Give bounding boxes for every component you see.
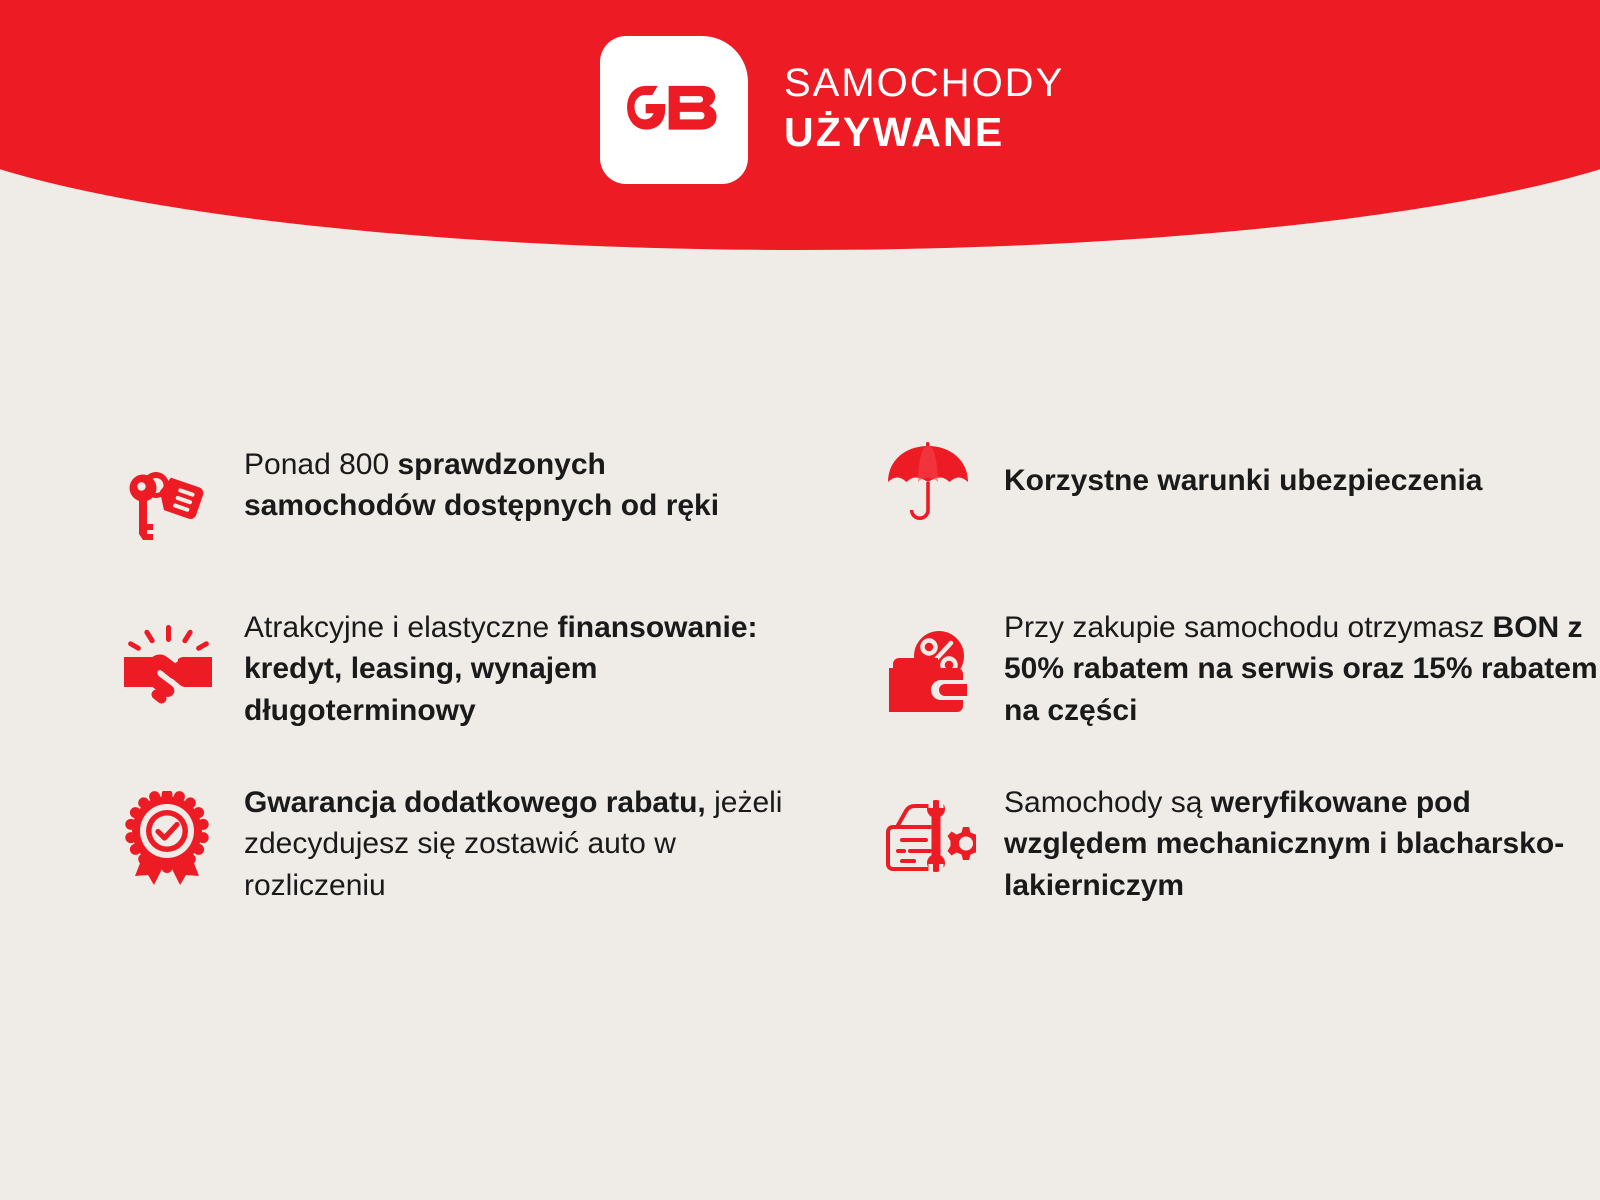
benefits-grid: Ponad 800 sprawdzonych samochodów dostęp… bbox=[0, 430, 1600, 955]
brand-line-uzywane: UŻYWANE bbox=[784, 112, 1064, 153]
umbrella-icon bbox=[880, 434, 976, 530]
benefit-item-verification: Samochody są weryfikowane pod względem m… bbox=[880, 780, 1600, 955]
benefit-item-financing: Atrakcyjne i elastyczne finansowanie: kr… bbox=[120, 605, 840, 780]
benefit-text: Przy zakupie samochodu otrzymasz BON z 5… bbox=[1004, 605, 1600, 731]
benefit-text: Atrakcyjne i elastyczne finansowanie: kr… bbox=[244, 605, 804, 731]
benefit-text-bold: Korzystne warunki ubezpieczenia bbox=[1004, 464, 1482, 497]
brand-logo-lockup[interactable]: SAMOCHODY UŻYWANE bbox=[600, 36, 1064, 184]
car-service-icon bbox=[880, 788, 976, 884]
brand-line-samochody: SAMOCHODY bbox=[784, 63, 1064, 103]
wallet-percent-icon bbox=[880, 623, 976, 719]
benefit-text-bold: Gwarancja dodatkowego rabatu, bbox=[244, 786, 706, 819]
benefit-item-cars-available: Ponad 800 sprawdzonych samochodów dostęp… bbox=[120, 430, 840, 605]
gb-logo-icon bbox=[600, 36, 748, 184]
benefit-item-voucher: Przy zakupie samochodu otrzymasz BON z 5… bbox=[880, 605, 1600, 780]
car-key-icon bbox=[120, 454, 216, 550]
benefit-text-regular: Samochody są bbox=[1004, 786, 1211, 819]
benefit-text: Ponad 800 sprawdzonych samochodów dostęp… bbox=[244, 442, 804, 527]
benefit-text: Gwarancja dodatkowego rabatu, jeżeli zde… bbox=[244, 780, 804, 906]
brand-wordmark: SAMOCHODY UŻYWANE bbox=[784, 63, 1064, 157]
benefit-text-regular: Przy zakupie samochodu otrzymasz bbox=[1004, 611, 1493, 644]
benefit-text: Korzystne warunki ubezpieczenia bbox=[1004, 458, 1600, 501]
handshake-icon bbox=[120, 619, 216, 715]
award-badge-icon bbox=[120, 790, 216, 886]
benefit-item-insurance: Korzystne warunki ubezpieczenia bbox=[880, 430, 1600, 605]
benefit-text: Samochody są weryfikowane pod względem m… bbox=[1004, 780, 1600, 906]
benefit-text-regular: Ponad 800 bbox=[244, 448, 397, 481]
benefit-text-regular: Atrakcyjne i elastyczne bbox=[244, 611, 557, 644]
benefit-item-trade-in-discount: Gwarancja dodatkowego rabatu, jeżeli zde… bbox=[120, 780, 840, 955]
